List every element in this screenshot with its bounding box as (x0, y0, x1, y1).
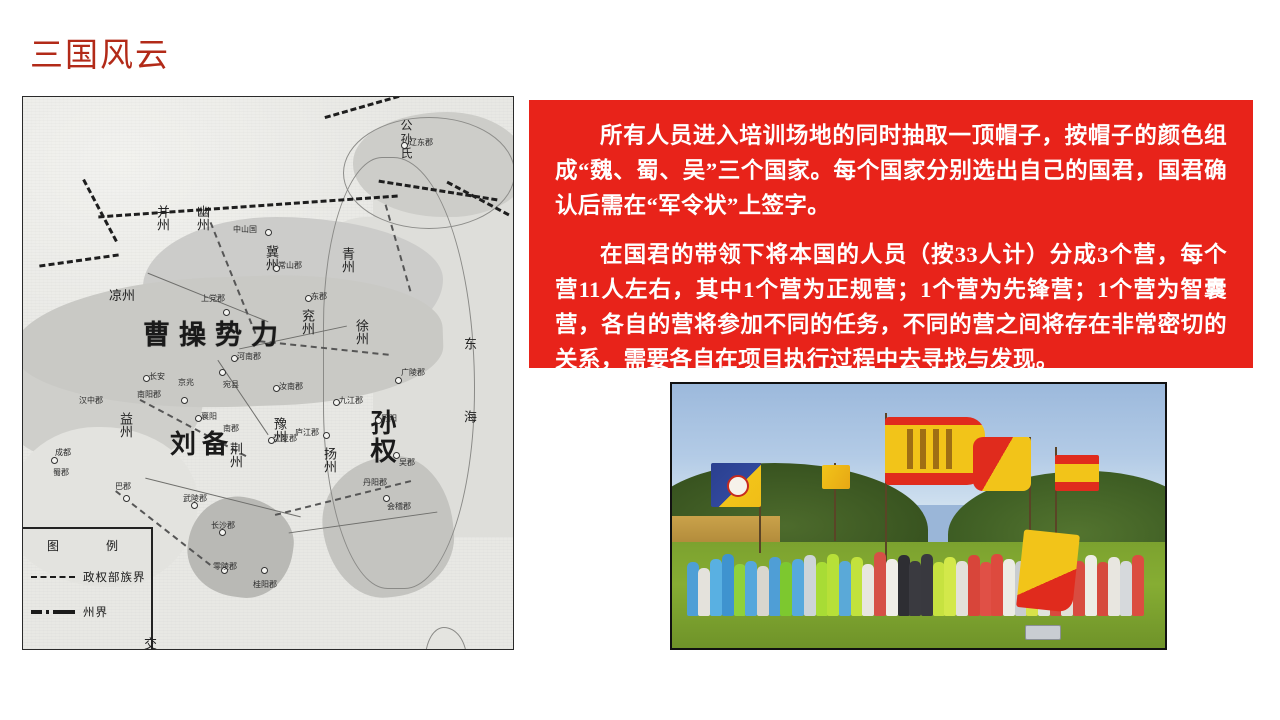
red-description-panel: 所有人员进入培训场地的同时抽取一顶帽子，按帽子的颜色组成“魏、蜀、吴”三个国家。… (529, 100, 1253, 368)
map-legend: 图 例 政权部族界 州界 (23, 527, 153, 649)
map-label-cao-cao-power: 曹操势力 (143, 322, 287, 349)
map-label-hanzhong: 汉中郡 (79, 397, 103, 405)
map-label-lujiang: 庐江郡 (295, 429, 319, 437)
map-label-guiyang: 桂阳郡 (253, 581, 277, 589)
photo-person (769, 557, 781, 616)
photo-person (792, 559, 804, 616)
photo-person (944, 557, 956, 616)
page-title: 三国风云 (30, 36, 170, 76)
map-label-wuling: 武陵郡 (183, 495, 207, 503)
photo-person (851, 557, 863, 616)
city-dot-changsha (219, 529, 226, 536)
legend-title: 图 例 (47, 537, 140, 554)
photo-person (1003, 559, 1015, 616)
photo-flag-right-b (1051, 447, 1111, 537)
map-figure: 曹操势力 刘备 孙权 公孙氏 并州 幽州 冀州 青州 徐州 兖州 豫州 荆州 扬… (22, 96, 514, 650)
city-dot-shangdang (223, 309, 230, 316)
legend-dash-dot-line-icon (31, 610, 75, 614)
map-label-lingling: 零陵郡 (213, 563, 237, 571)
photo-person (734, 564, 746, 616)
legend-item-label: 州界 (83, 604, 108, 620)
city-dot-zhongshan (265, 229, 272, 236)
photo-person (1120, 561, 1132, 617)
map-label-region-east-sea: 东海 (463, 337, 476, 483)
city-dot-guiyang (261, 567, 268, 574)
photo-flag-cloth (1055, 455, 1099, 491)
map-label-region-qingzhou: 青州 (341, 247, 354, 273)
photo-crowd (687, 529, 1155, 616)
photo-person (804, 555, 816, 616)
map-label-shujun: 蜀郡 (53, 469, 69, 477)
map-label-dongjun: 东郡 (311, 293, 327, 301)
map-label-region-bingzhou: 并州 (156, 205, 169, 231)
photo-person (980, 562, 992, 616)
map-label-jingzhao: 京兆 (178, 379, 194, 387)
description-paragraph-1: 所有人员进入培训场地的同时抽取一顶帽子，按帽子的颜色组成“魏、蜀、吴”三个国家。… (555, 118, 1227, 223)
photo-person (687, 562, 699, 616)
photo-flag-text-block (907, 429, 959, 469)
map-label-changsha: 长沙郡 (211, 522, 235, 530)
map-label-danyang: 丹阳郡 (363, 479, 387, 487)
photo-person (722, 554, 734, 617)
map-label-liaodong: 辽东郡 (409, 139, 433, 147)
map-label-region-liangzhou: 凉州 (109, 289, 135, 302)
map-label-runan: 汝南郡 (279, 383, 303, 391)
photo-person (710, 559, 722, 616)
photo-person (839, 561, 851, 617)
city-dot-nanyang (181, 397, 188, 404)
map-label-xiangyang: 襄阳 (201, 413, 217, 421)
photo-person (898, 555, 910, 616)
photo-person (816, 562, 828, 616)
photo-person (968, 555, 980, 616)
map-label-guangling: 广陵郡 (401, 369, 425, 377)
photo-person (1108, 557, 1120, 616)
photo-flag-cloth (822, 465, 850, 489)
city-dot-lujiang (323, 432, 330, 439)
photo-person (921, 554, 933, 617)
coastline-liaodong (343, 117, 514, 229)
legend-dashed-line-icon (31, 576, 75, 578)
group-photo (670, 382, 1167, 650)
photo-person (909, 561, 921, 617)
map-label-wanxian: 宛县 (223, 381, 239, 389)
map-label-kuaiji: 会稽郡 (387, 503, 411, 511)
photo-person (827, 554, 839, 617)
map-label-region-yizhou: 益州 (119, 412, 132, 438)
map-label-shangdang: 上党郡 (201, 295, 225, 303)
photo-person (1085, 555, 1097, 616)
photo-person (933, 562, 945, 616)
map-label-changan: 长安 (149, 373, 165, 381)
map-label-liu-bei: 刘备 (170, 432, 234, 458)
map-label-bajun: 巴郡 (115, 483, 131, 491)
photo-person (745, 561, 757, 617)
city-dot-kuaiji (383, 495, 390, 502)
map-label-nanyang: 南阳郡 (137, 391, 161, 399)
photo-person (698, 568, 710, 617)
map-label-region-yangzhou: 扬州 (323, 447, 336, 473)
description-paragraph-2: 在国君的带领下将本国的人员（按33人计）分成3个营，每个营11人左右，其中1个营… (555, 237, 1227, 377)
photo-equipment-case (1025, 625, 1061, 640)
photo-person (991, 554, 1003, 617)
photo-person (862, 564, 874, 616)
photo-person (1097, 562, 1109, 616)
map-label-jiujiang: 九江郡 (339, 397, 363, 405)
legend-item-label: 政权部族界 (83, 569, 146, 585)
photo-person (874, 552, 886, 616)
city-dot-wanxian (219, 369, 226, 376)
city-dot-guangling (395, 377, 402, 384)
map-label-zhongshan: 中山国 (233, 226, 257, 234)
city-dot-chengdu (51, 457, 58, 464)
map-label-nanjun: 南郡 (223, 425, 239, 433)
legend-item-prefecture-boundary: 州界 (31, 604, 108, 620)
slide-root: 三国风云 (0, 0, 1280, 720)
map-label-liyang: 历阳 (381, 415, 397, 423)
photo-person (1132, 555, 1144, 616)
map-label-henan: 河南郡 (237, 353, 261, 361)
map-label-region-youzhou: 幽州 (196, 205, 209, 231)
photo-person (956, 561, 968, 617)
map-label-changshan: 常山郡 (278, 262, 302, 270)
city-dot-wuling (191, 502, 198, 509)
map-label-region-xuzhou: 徐州 (355, 319, 368, 345)
map-label-jiangxia: 江夏郡 (273, 435, 297, 443)
map-label-region-jingzhou: 荆州 (229, 442, 242, 468)
photo-flag-cloth (973, 437, 1031, 491)
map-label-region-yanzhou: 兖州 (301, 309, 314, 335)
map-label-chengdu: 成都 (55, 449, 71, 457)
legend-item-regime-boundary: 政权部族界 (31, 569, 146, 585)
map-label-wujun: 吴郡 (399, 459, 415, 467)
city-dot-liaodong (401, 142, 408, 149)
photo-person (757, 566, 769, 617)
photo-person (780, 562, 792, 616)
photo-person (886, 559, 898, 616)
photo-banner-held (1016, 529, 1080, 612)
city-dot-bajun (123, 495, 130, 502)
map-canvas: 曹操势力 刘备 孙权 公孙氏 并州 幽州 冀州 青州 徐州 兖州 豫州 荆州 扬… (23, 97, 513, 649)
